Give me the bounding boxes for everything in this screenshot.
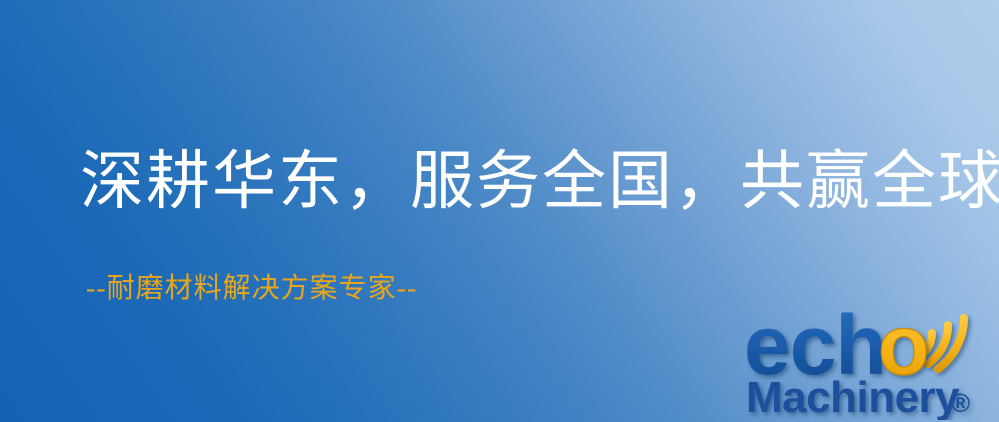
logo-registered-mark: ® xyxy=(951,388,970,418)
banner-subtitle: --耐磨材料解决方案专家-- xyxy=(86,266,417,306)
echo-machinery-logo[interactable]: ech o Machinery ® xyxy=(742,292,994,420)
hero-banner: 深耕华东，服务全国，共赢全球 --耐磨材料解决方案专家-- xyxy=(0,0,999,422)
banner-headline: 深耕华东，服务全国，共赢全球 xyxy=(80,148,999,215)
logo-word-machinery: Machinery xyxy=(746,373,960,420)
